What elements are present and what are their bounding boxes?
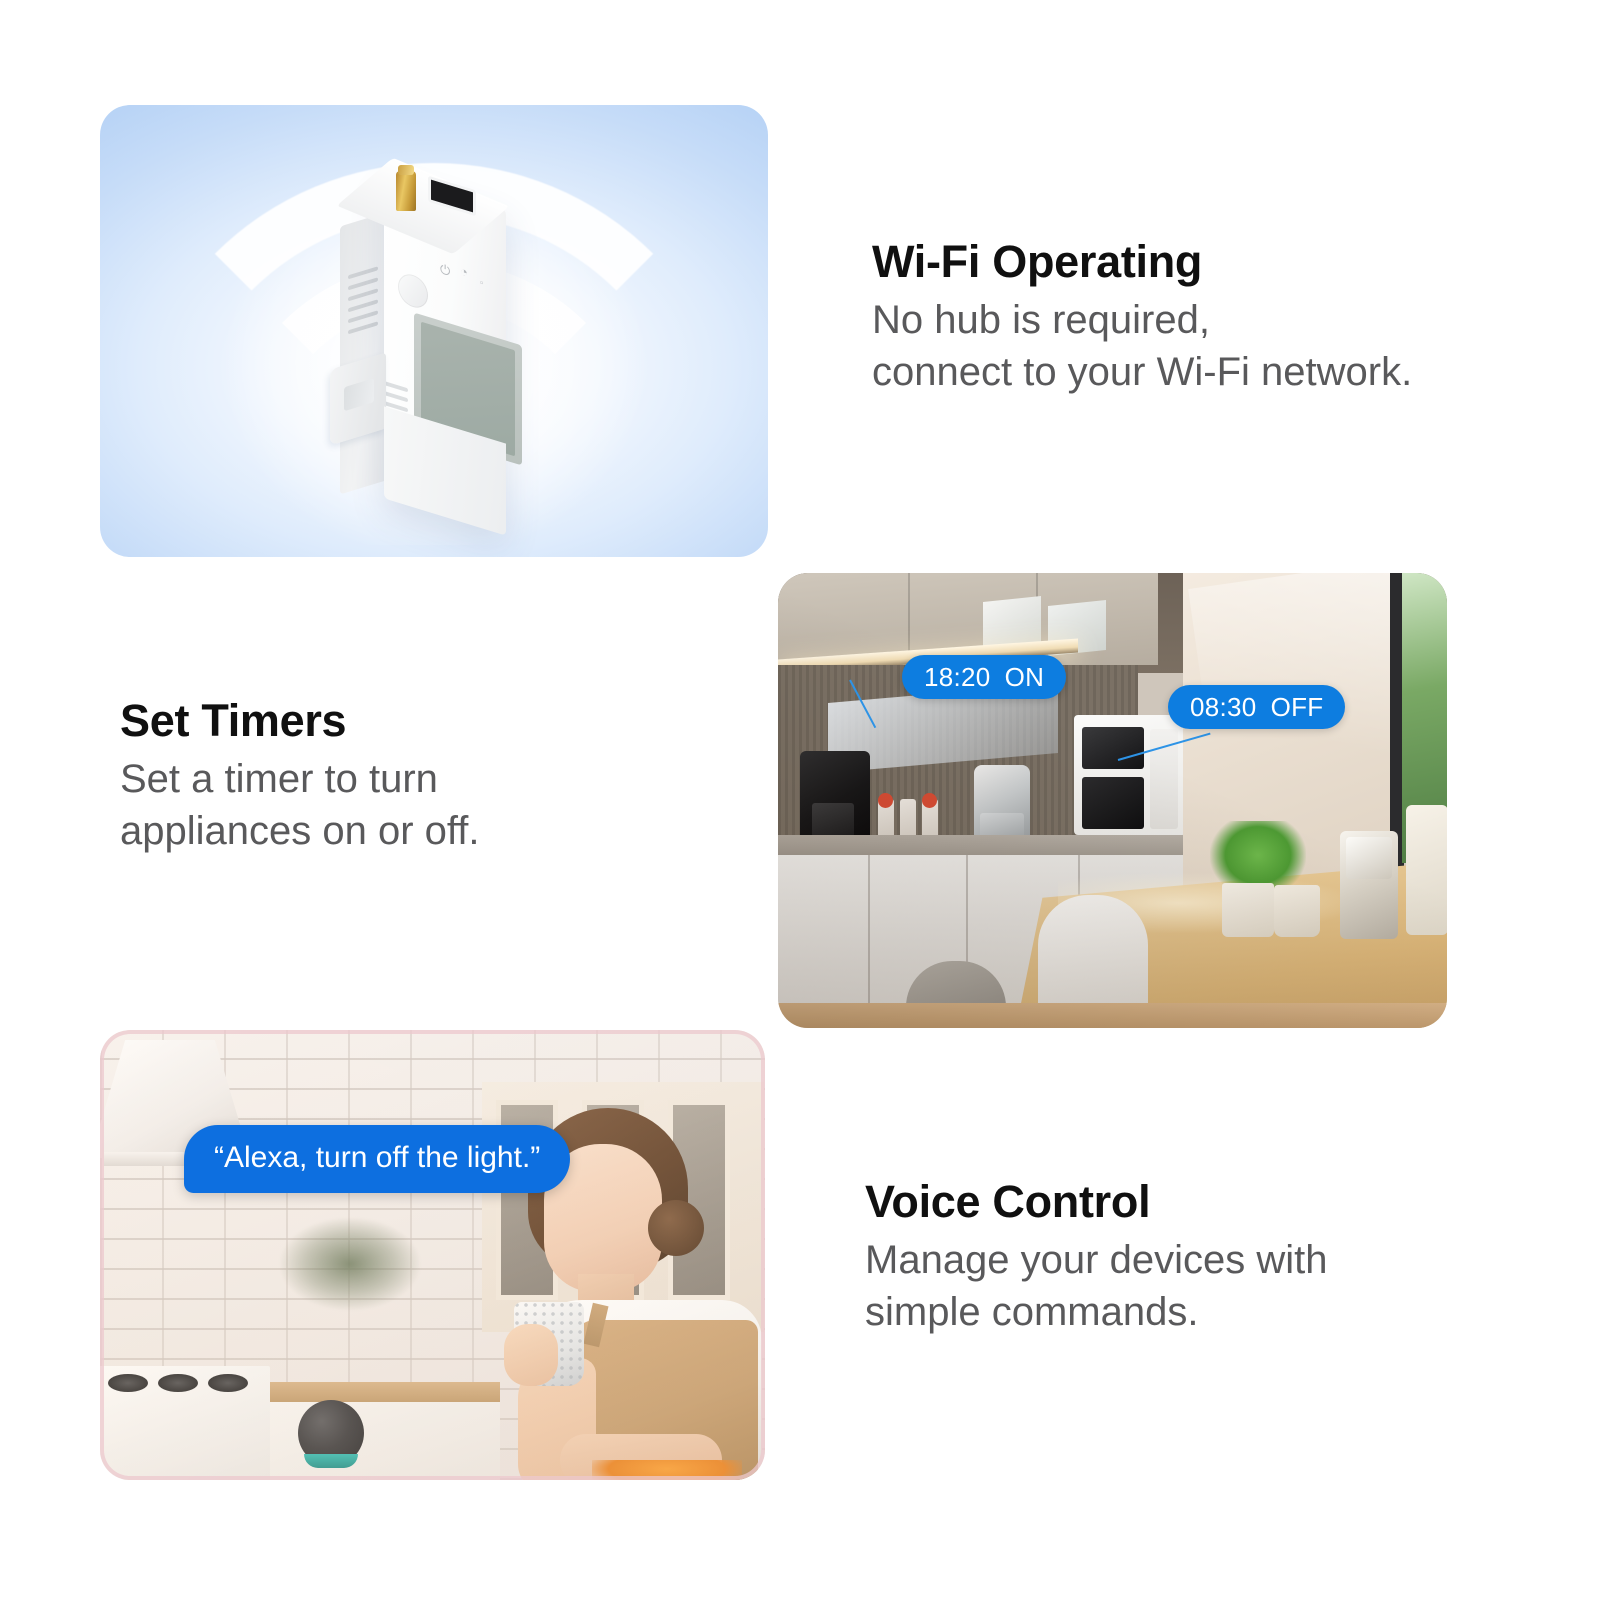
- timer-badge-on-state: ON: [1005, 662, 1045, 693]
- feature-text-timers: Set Timers Set a timer to turn appliance…: [120, 697, 740, 857]
- feature-desc-wifi: No hub is required, connect to your Wi-F…: [872, 294, 1532, 398]
- timer-badge-off-time: 08:30: [1190, 692, 1257, 723]
- feature-desc-voice: Manage your devices with simple commands…: [865, 1234, 1505, 1338]
- smart-switch-device: ⏻ ◔ ▫: [322, 153, 562, 523]
- timer-badge-on: 18:20 ON: [902, 655, 1066, 699]
- feature-title-wifi: Wi-Fi Operating: [872, 238, 1532, 286]
- feature-title-timers: Set Timers: [120, 697, 740, 745]
- product-feature-page: ⏻ ◔ ▫ Wi-Fi Operating No hub is required…: [0, 0, 1600, 1600]
- warm-light-overlay: [100, 1030, 765, 1480]
- feature-text-wifi: Wi-Fi Operating No hub is required, conn…: [872, 238, 1532, 398]
- timer-badge-on-time: 18:20: [924, 662, 991, 693]
- kitchen-scene: [778, 573, 1447, 1028]
- feature-text-voice: Voice Control Manage your devices with s…: [865, 1178, 1505, 1338]
- voice-control-image-card: “Alexa, turn off the light.”: [100, 1030, 765, 1480]
- voice-command-bubble: “Alexa, turn off the light.”: [184, 1125, 570, 1193]
- feature-desc-timers: Set a timer to turn appliances on or off…: [120, 753, 740, 857]
- alexa-kitchen-scene: [100, 1030, 765, 1480]
- timer-badge-off: 08:30 OFF: [1168, 685, 1345, 729]
- timers-kitchen-image-card: 18:20 ON 08:30 OFF: [778, 573, 1447, 1028]
- antenna-connector-icon: [396, 171, 416, 211]
- wifi-icon: ◔: [460, 264, 468, 279]
- status-dot-icon: ▫: [480, 278, 483, 288]
- timer-badge-off-state: OFF: [1271, 692, 1324, 723]
- power-icon: ⏻: [440, 262, 450, 278]
- wifi-product-image-card: ⏻ ◔ ▫: [100, 105, 768, 557]
- scene-shadow-overlay: [778, 573, 1447, 1028]
- feature-title-voice: Voice Control: [865, 1178, 1505, 1226]
